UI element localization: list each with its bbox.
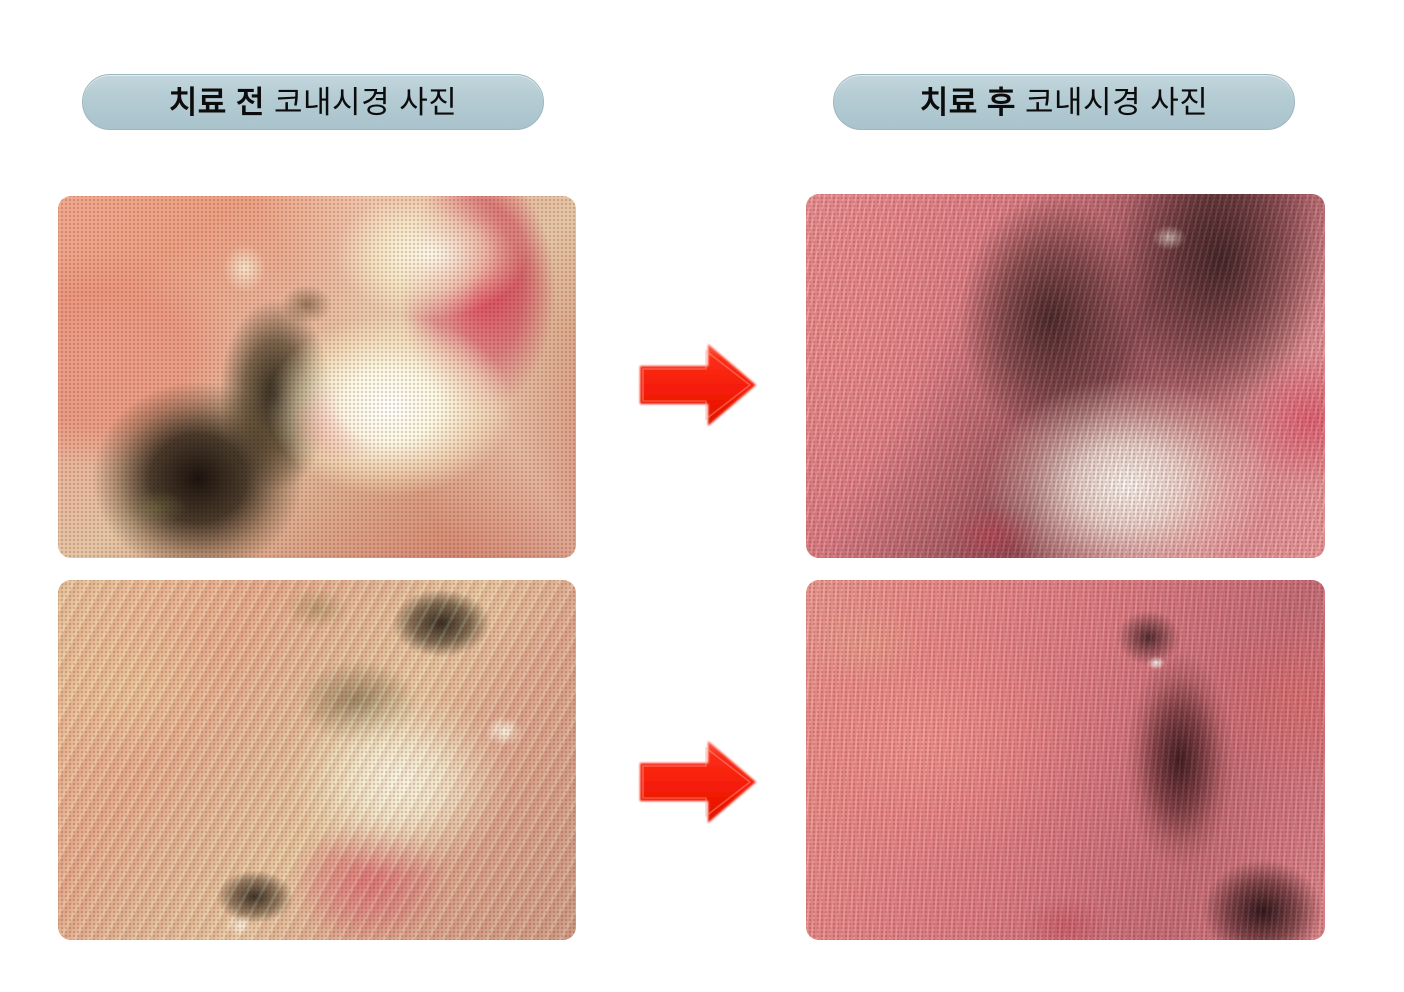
column-label-before-light: 코내시경 사진 — [265, 85, 457, 120]
photo-detail-layer — [58, 580, 576, 940]
progress-arrow-1 — [634, 338, 762, 432]
column-label-after: 치료 후 코내시경 사진 — [833, 74, 1295, 130]
arrow-right-icon — [634, 735, 762, 829]
photo-detail-layer — [806, 194, 1325, 558]
column-label-after-light: 코내시경 사진 — [1016, 85, 1208, 120]
progress-arrow-2 — [634, 735, 762, 829]
column-label-before-strong: 치료 전 — [169, 85, 265, 120]
photo-detail-layer — [58, 196, 576, 558]
column-label-before: 치료 전 코내시경 사진 — [82, 74, 544, 130]
nasal-endoscopy-after-1 — [806, 194, 1325, 558]
column-label-after-text: 치료 후 코내시경 사진 — [920, 87, 1209, 118]
nasal-endoscopy-after-2 — [806, 580, 1325, 940]
photo-detail-layer — [806, 580, 1325, 940]
column-label-after-strong: 치료 후 — [920, 85, 1016, 120]
comparison-page: 치료 전 코내시경 사진 치료 후 코내시경 사진 — [0, 0, 1404, 992]
nasal-endoscopy-before-1 — [58, 196, 576, 558]
nasal-endoscopy-before-2 — [58, 580, 576, 940]
column-label-before-text: 치료 전 코내시경 사진 — [169, 87, 458, 118]
arrow-right-icon — [634, 338, 762, 432]
